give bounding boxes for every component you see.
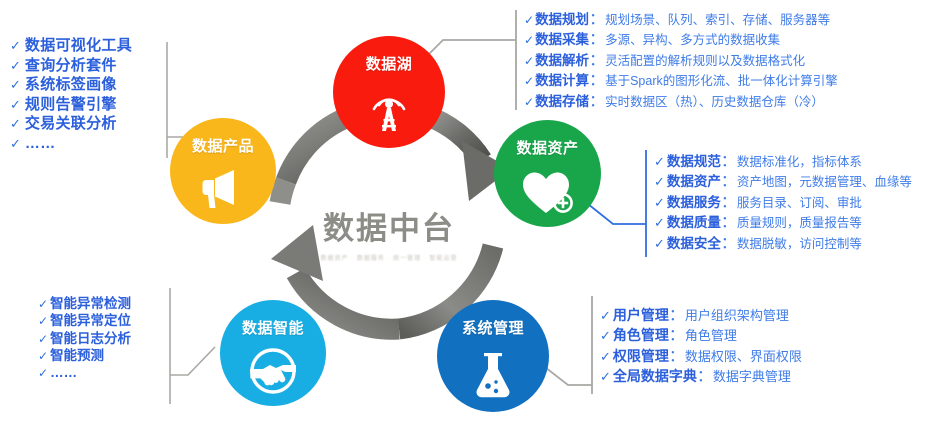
broadcast-tower-icon: [333, 72, 445, 148]
list-item: ✓全局数据字典：数据字典管理: [600, 367, 802, 387]
check-icon: ✓: [38, 332, 48, 347]
list-item-title: 数据质量: [667, 214, 721, 231]
list-item-desc: 资产地图，元数据管理、血缘等: [737, 174, 912, 190]
list-item-title: 数据资产: [667, 173, 721, 190]
list-item: ✓权限管理：数据权限、界面权限: [600, 347, 802, 367]
list-item-title: 系统标签画像: [25, 75, 117, 95]
list-item-desc: 服务目录、订阅、审批: [737, 195, 862, 211]
list-item: ✓用户管理：用户组织架构管理: [600, 306, 802, 326]
list-item: ✓角色管理：角色管理: [600, 326, 802, 346]
list-item-separator: ：: [721, 193, 737, 213]
list-item-title: 数据规划: [535, 11, 589, 28]
node-label-data-product: 数据产品: [192, 135, 254, 156]
list-item: ✓……: [38, 364, 131, 381]
list-item: ✓智能日志分析: [38, 330, 131, 347]
list-item-title: 数据可视化工具: [25, 36, 132, 56]
check-icon: ✓: [38, 314, 48, 329]
list-item: ✓系统标签画像: [10, 75, 132, 95]
list-item-desc: 数据权限、界面权限: [685, 349, 802, 366]
list-item-desc: 规划场景、队列、索引、存储、服务器等: [605, 12, 830, 28]
check-icon: ✓: [654, 195, 665, 212]
check-icon: ✓: [10, 97, 21, 114]
list-item-title: 交易关联分析: [25, 114, 117, 134]
center-caption: 数据中台 数据资产 · 数据服务 · 统一管理 · 智能运营: [279, 203, 499, 262]
list-item-separator: ：: [589, 30, 605, 50]
list-item: ✓数据安全：数据脱敏，访问控制等: [654, 234, 912, 254]
list-item-separator: ：: [669, 326, 685, 346]
list-item-separator: ：: [669, 306, 685, 326]
list-item: ✓交易关联分析: [10, 114, 132, 134]
center-subtitle: 数据资产 · 数据服务 · 统一管理 · 智能运营: [279, 253, 499, 262]
megaphone-icon: [170, 154, 276, 224]
list-item: ✓智能异常定位: [38, 312, 131, 329]
list-item: ✓查询分析套件: [10, 56, 132, 76]
list-item-title: 数据服务: [667, 194, 721, 211]
list-item-title: ……: [25, 134, 56, 154]
check-icon: ✓: [524, 54, 534, 69]
list-item-title: 智能日志分析: [50, 330, 131, 347]
list-item-title: 权限管理: [613, 348, 669, 366]
node-data-intelligence[interactable]: 数据智能: [220, 300, 326, 406]
check-icon: ✓: [10, 116, 21, 133]
list-item-desc: 数据字典管理: [713, 369, 791, 386]
check-icon: ✓: [654, 215, 665, 232]
heart-plus-icon: [494, 156, 601, 227]
list-item-separator: ：: [669, 347, 685, 367]
check-icon: ✓: [10, 77, 21, 94]
panel-data-asset: ✓数据规范：数据标准化，指标体系✓数据资产：资产地图，元数据管理、血缘等✓数据服…: [654, 152, 912, 254]
node-data-lake[interactable]: 数据湖: [333, 36, 445, 148]
list-item-title: 数据规范: [667, 153, 721, 170]
list-item-title: 规则告警引擎: [25, 95, 117, 115]
node-label-data-intelligence: 数据智能: [242, 317, 304, 338]
check-icon: ✓: [10, 38, 21, 55]
list-item-title: 数据存储: [535, 93, 589, 110]
list-item-title: ……: [50, 364, 77, 381]
list-item: ✓规则告警引擎: [10, 95, 132, 115]
list-item-title: 角色管理: [613, 327, 669, 345]
node-label-data-lake: 数据湖: [366, 53, 413, 74]
list-item-desc: 数据脱敏，访问控制等: [737, 236, 862, 252]
panel-system-management: ✓用户管理：用户组织架构管理✓角色管理：角色管理✓权限管理：数据权限、界面权限✓…: [600, 306, 802, 388]
list-item-title: 智能异常检测: [50, 295, 131, 312]
list-item: ✓数据规划：规划场景、队列、索引、存储、服务器等: [524, 10, 838, 30]
check-icon: ✓: [524, 74, 534, 89]
check-icon: ✓: [654, 236, 665, 253]
node-label-data-asset: 数据资产: [516, 137, 578, 158]
list-item-title: 数据计算: [535, 72, 589, 89]
check-icon: ✓: [38, 297, 48, 312]
list-item-title: 智能异常定位: [50, 312, 131, 329]
list-item-separator: ：: [589, 71, 605, 91]
list-item-desc: 基于Spark的图形化流、批一体化计算引擎: [605, 73, 838, 89]
list-item-title: 数据采集: [535, 31, 589, 48]
check-icon: ✓: [38, 349, 48, 364]
list-item-separator: ：: [589, 10, 605, 30]
list-item-desc: 多源、异构、多方式的数据收集: [605, 32, 780, 48]
check-icon: ✓: [10, 136, 21, 153]
list-item: ✓智能预测: [38, 347, 131, 364]
list-item-separator: ：: [589, 92, 605, 112]
panel-data-intelligence: ✓智能异常检测✓智能异常定位✓智能日志分析✓智能预测✓……: [38, 295, 131, 382]
handshake-icon: [220, 336, 326, 406]
list-item: ✓数据计算：基于Spark的图形化流、批一体化计算引擎: [524, 71, 838, 91]
list-item-desc: 数据标准化，指标体系: [737, 154, 862, 170]
node-data-asset[interactable]: 数据资产: [494, 120, 601, 227]
check-icon: ✓: [654, 154, 665, 171]
list-item-title: 查询分析套件: [25, 56, 117, 76]
node-data-product[interactable]: 数据产品: [170, 118, 276, 224]
list-item: ✓数据资产：资产地图，元数据管理、血缘等: [654, 172, 912, 192]
list-item-desc: 角色管理: [685, 328, 737, 345]
check-icon: ✓: [10, 58, 21, 75]
panel-data-product: ✓数据可视化工具✓查询分析套件✓系统标签画像✓规则告警引擎✓交易关联分析✓……: [10, 36, 132, 153]
list-item-separator: ：: [589, 51, 605, 71]
list-item-separator: ：: [721, 152, 737, 172]
list-item-title: 用户管理: [613, 307, 669, 325]
list-item-separator: ：: [721, 213, 737, 233]
list-item-desc: 实时数据区（热）、历史数据仓库（冷）: [605, 94, 824, 110]
list-item: ✓数据采集：多源、异构、多方式的数据收集: [524, 30, 838, 50]
list-item-separator: ：: [697, 367, 713, 387]
check-icon: ✓: [38, 366, 48, 381]
node-label-system-management: 系统管理: [462, 317, 524, 338]
list-item: ✓数据质量：质量规则，质量报告等: [654, 213, 912, 233]
node-system-management[interactable]: 系统管理: [437, 300, 549, 412]
center-title: 数据中台: [279, 203, 499, 248]
check-icon: ✓: [600, 349, 611, 366]
check-icon: ✓: [524, 95, 534, 110]
check-icon: ✓: [524, 33, 534, 48]
list-item: ✓数据服务：服务目录、订阅、审批: [654, 193, 912, 213]
list-item: ✓智能异常检测: [38, 295, 131, 312]
list-item-title: 智能预测: [50, 347, 104, 364]
check-icon: ✓: [524, 13, 534, 28]
diagram-canvas: 数据中台 数据资产 · 数据服务 · 统一管理 · 智能运营 数据湖 数据资产: [0, 0, 931, 428]
list-item-desc: 质量规则，质量报告等: [737, 215, 862, 231]
list-item-title: 数据安全: [667, 235, 721, 252]
flask-icon: [437, 336, 549, 412]
list-item-title: 数据解析: [535, 52, 589, 69]
list-item: ✓数据可视化工具: [10, 36, 132, 56]
list-item: ✓数据存储：实时数据区（热）、历史数据仓库（冷）: [524, 92, 838, 112]
list-item: ✓数据规范：数据标准化，指标体系: [654, 152, 912, 172]
panel-data-lake: ✓数据规划：规划场景、队列、索引、存储、服务器等✓数据采集：多源、异构、多方式的…: [524, 10, 838, 112]
list-item-separator: ：: [721, 172, 737, 192]
list-item: ✓数据解析：灵活配置的解析规则以及数据格式化: [524, 51, 838, 71]
list-item-separator: ：: [721, 234, 737, 254]
check-icon: ✓: [654, 174, 665, 191]
check-icon: ✓: [600, 369, 611, 386]
list-item-title: 全局数据字典: [613, 368, 697, 386]
list-item-desc: 用户组织架构管理: [685, 308, 789, 325]
list-item-desc: 灵活配置的解析规则以及数据格式化: [605, 53, 805, 69]
check-icon: ✓: [600, 328, 611, 345]
list-item: ✓……: [10, 134, 132, 154]
check-icon: ✓: [600, 308, 611, 325]
